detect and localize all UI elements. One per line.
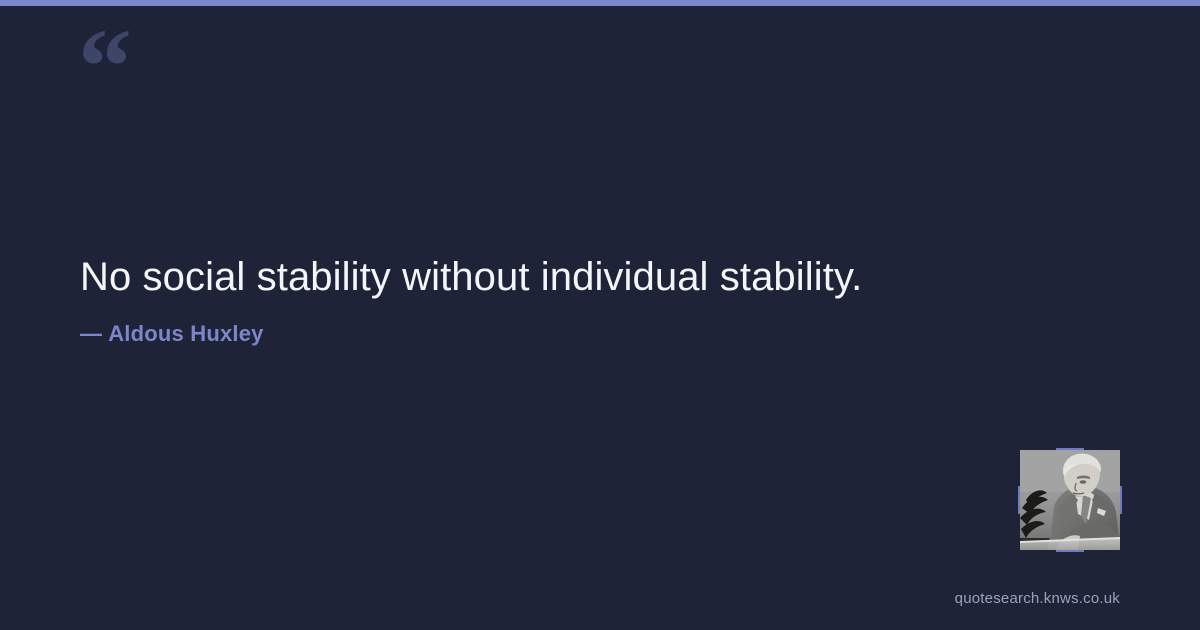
author-name: Aldous Huxley xyxy=(108,321,263,346)
open-quote-icon: “ xyxy=(78,14,130,122)
top-accent-bar xyxy=(0,0,1200,6)
portrait-frame-tick-bottom xyxy=(1056,550,1084,552)
quote-attribution: —Aldous Huxley xyxy=(80,302,1090,347)
quote-block: No social stability without individual s… xyxy=(80,252,1090,347)
quote-text: No social stability without individual s… xyxy=(80,252,1090,302)
portrait-frame-tick-top xyxy=(1056,448,1084,450)
author-portrait xyxy=(1020,450,1120,550)
author-portrait-image xyxy=(1020,450,1120,550)
source-url: quotesearch.knws.co.uk xyxy=(955,590,1120,607)
portrait-frame-tick-right xyxy=(1120,486,1122,514)
quote-card: “ No social stability without individual… xyxy=(0,0,1200,630)
attribution-dash: — xyxy=(80,321,102,346)
portrait-frame-tick-left xyxy=(1018,486,1020,514)
